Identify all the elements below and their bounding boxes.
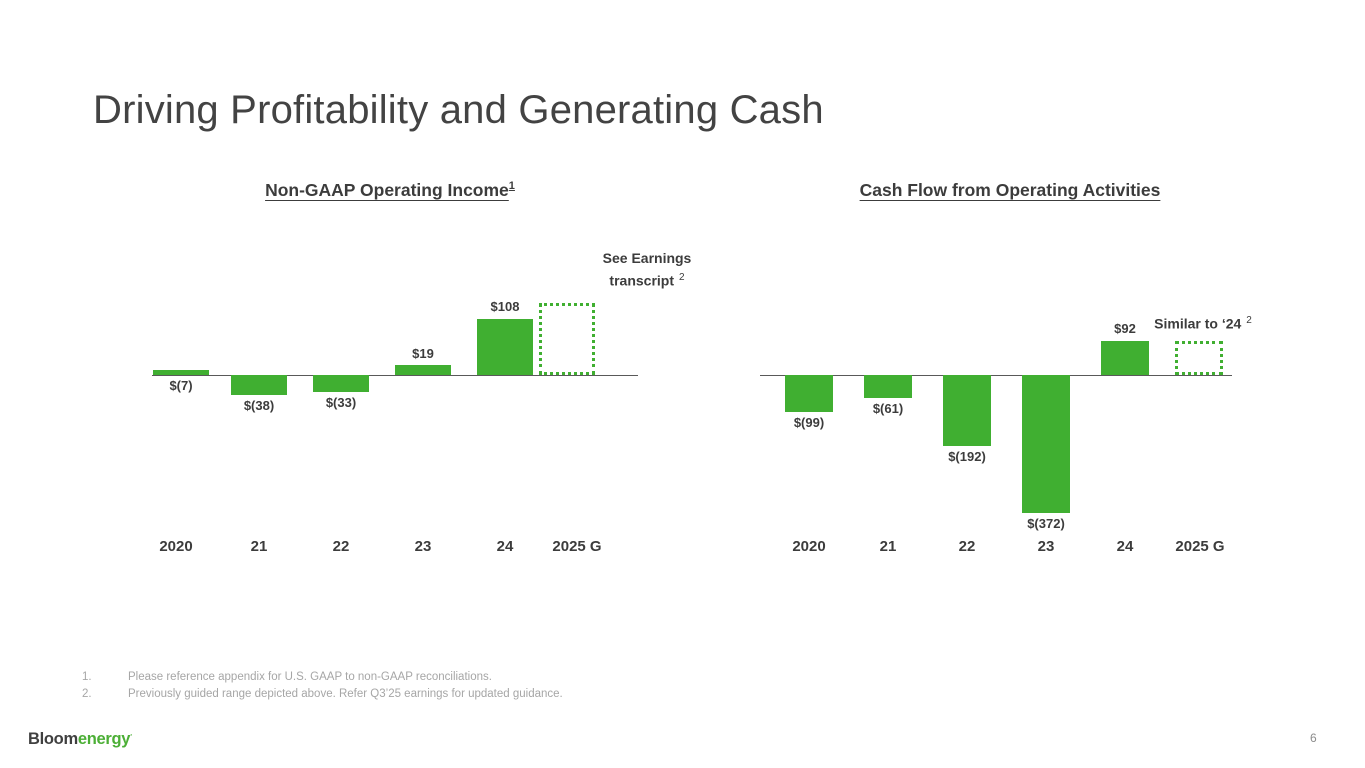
value-label-21: $(38) — [231, 398, 287, 413]
bar-22 — [313, 375, 369, 392]
annotation-left-superscript: 2 — [679, 272, 685, 283]
annotation-right: Similar to ‘242 — [1138, 311, 1268, 334]
bar-21 — [231, 375, 287, 395]
bloom-energy-logo: Bloomenergy· — [28, 730, 133, 749]
bar-23 — [1022, 375, 1070, 513]
bar-2025-guidance-placeholder — [539, 303, 595, 375]
value-label-23: $19 — [395, 346, 451, 361]
bar-2020 — [153, 370, 209, 375]
annotation-left: See Earnings transcript2 — [577, 248, 717, 291]
annotation-right-superscript: 2 — [1246, 315, 1252, 326]
logo-bloom-text: Bloom — [28, 730, 78, 748]
category-label-2025-g: 2025 G — [1142, 538, 1258, 555]
bar-22 — [943, 375, 991, 446]
footnote-number: 1. — [82, 669, 128, 686]
value-label-23: $(372) — [1018, 516, 1074, 531]
chart-cash-flow-from-operating-activities: Cash Flow from Operating Activities Simi… — [760, 170, 1260, 570]
annotation-left-line2: transcript — [609, 273, 674, 289]
page-title: Driving Profitability and Generating Cas… — [93, 88, 824, 133]
bar-2025-guidance-placeholder — [1175, 341, 1223, 375]
footnote-row: 2. Previously guided range depicted abov… — [82, 686, 563, 703]
chart-non-gaap-operating-income: Non-GAAP Operating Income1 See Earnings … — [130, 170, 650, 570]
logo-trademark-mark: · — [130, 731, 132, 740]
footnote-row: 1. Please reference appendix for U.S. GA… — [82, 669, 563, 686]
annotation-left-line1: See Earnings — [603, 250, 692, 266]
bar-24 — [1101, 341, 1149, 375]
zero-axis-line-left — [152, 375, 638, 376]
value-label-24: $108 — [477, 299, 533, 314]
bar-2020 — [785, 375, 833, 412]
slide: Driving Profitability and Generating Cas… — [0, 0, 1365, 768]
bar-21 — [864, 375, 912, 398]
value-label-21: $(61) — [860, 401, 916, 416]
plot-area-right: Similar to ‘242 $(99) $(61) $(192) $(372… — [760, 170, 1260, 570]
value-label-2020: $(7) — [153, 378, 209, 393]
footnote-text: Please reference appendix for U.S. GAAP … — [128, 669, 492, 686]
bar-23 — [395, 365, 451, 375]
footnote-number: 2. — [82, 686, 128, 703]
value-label-22: $(33) — [313, 395, 369, 410]
value-label-24: $92 — [1097, 321, 1153, 336]
page-number: 6 — [1310, 731, 1317, 745]
value-label-2020: $(99) — [781, 415, 837, 430]
plot-area-left: See Earnings transcript2 $(7) $(38) $(33… — [130, 170, 650, 570]
footnote-text: Previously guided range depicted above. … — [128, 686, 563, 703]
logo-energy-text: energy — [78, 730, 130, 748]
bar-24 — [477, 319, 533, 375]
category-label-2025-g: 2025 G — [519, 538, 635, 555]
annotation-right-line1: Similar to ‘24 — [1154, 316, 1241, 332]
value-label-22: $(192) — [939, 449, 995, 464]
footnotes: 1. Please reference appendix for U.S. GA… — [82, 669, 563, 703]
